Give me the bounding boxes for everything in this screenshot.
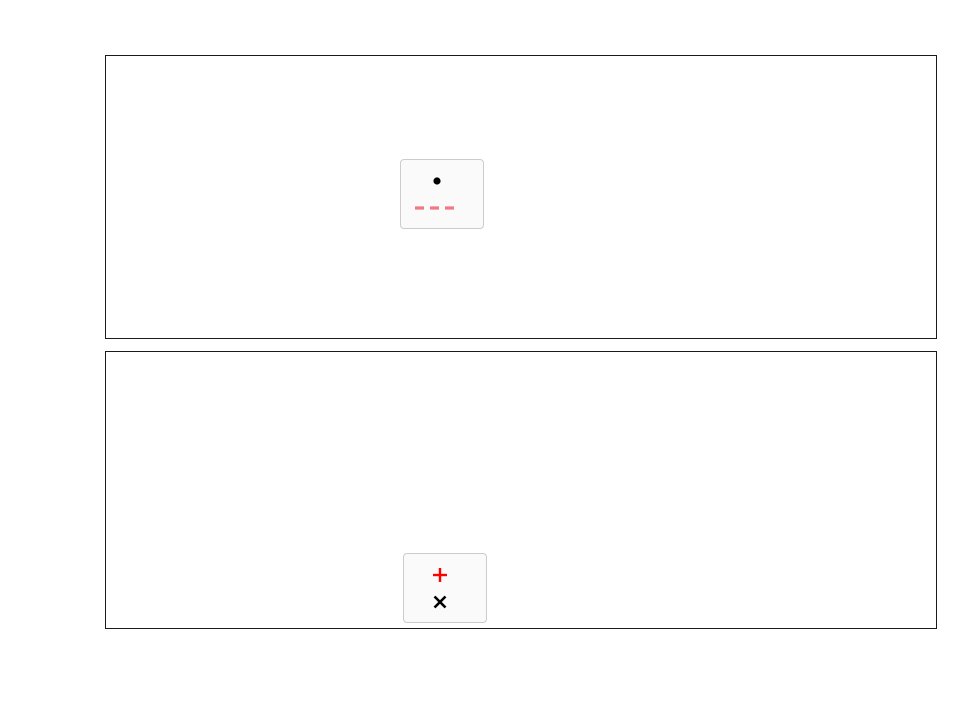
legend-item-matched-stars[interactable] — [414, 561, 474, 588]
dashed-line-icon — [411, 202, 463, 214]
legend-item-threshold[interactable] — [411, 194, 471, 221]
plus-marker-icon — [414, 566, 466, 584]
scatter-plot-top — [106, 56, 936, 338]
dot-marker-icon — [411, 174, 463, 188]
legend-top — [400, 159, 484, 229]
legend-item-measurements[interactable] — [411, 167, 471, 194]
x-axis-ticks — [105, 629, 937, 669]
legend-bottom — [403, 553, 487, 623]
plot-area-bottom — [105, 351, 937, 629]
plot-area-top — [105, 55, 937, 339]
cross-marker-icon — [414, 593, 466, 611]
figure-root — [0, 0, 960, 720]
scatter-plot-bottom — [106, 352, 936, 628]
legend-item-predicted-stars[interactable] — [414, 588, 474, 615]
